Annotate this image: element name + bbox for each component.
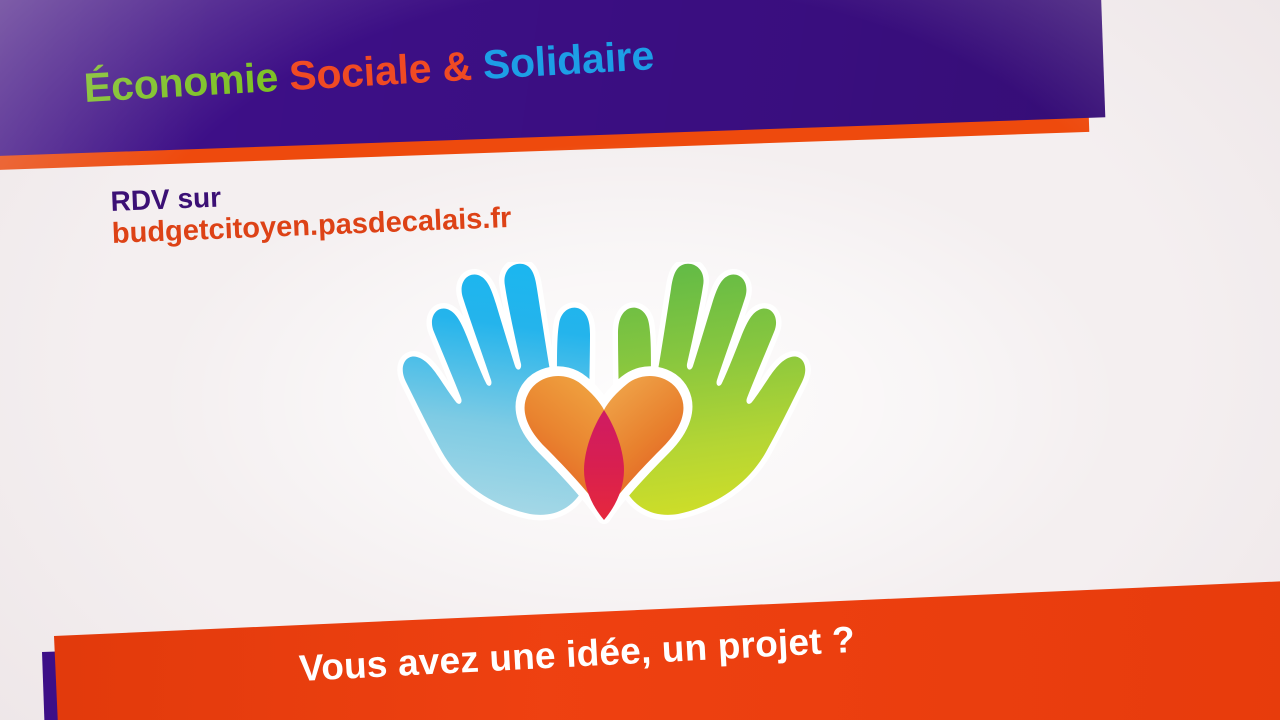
hands-and-heart-logo	[384, 262, 824, 524]
title-word-sociale: Sociale	[288, 44, 444, 99]
title-word-ampersand: &	[441, 42, 484, 90]
video-frame: Économie Sociale & Solidaire RDV sur bud…	[0, 0, 1280, 720]
title-word-solidaire: Solidaire	[482, 32, 656, 88]
